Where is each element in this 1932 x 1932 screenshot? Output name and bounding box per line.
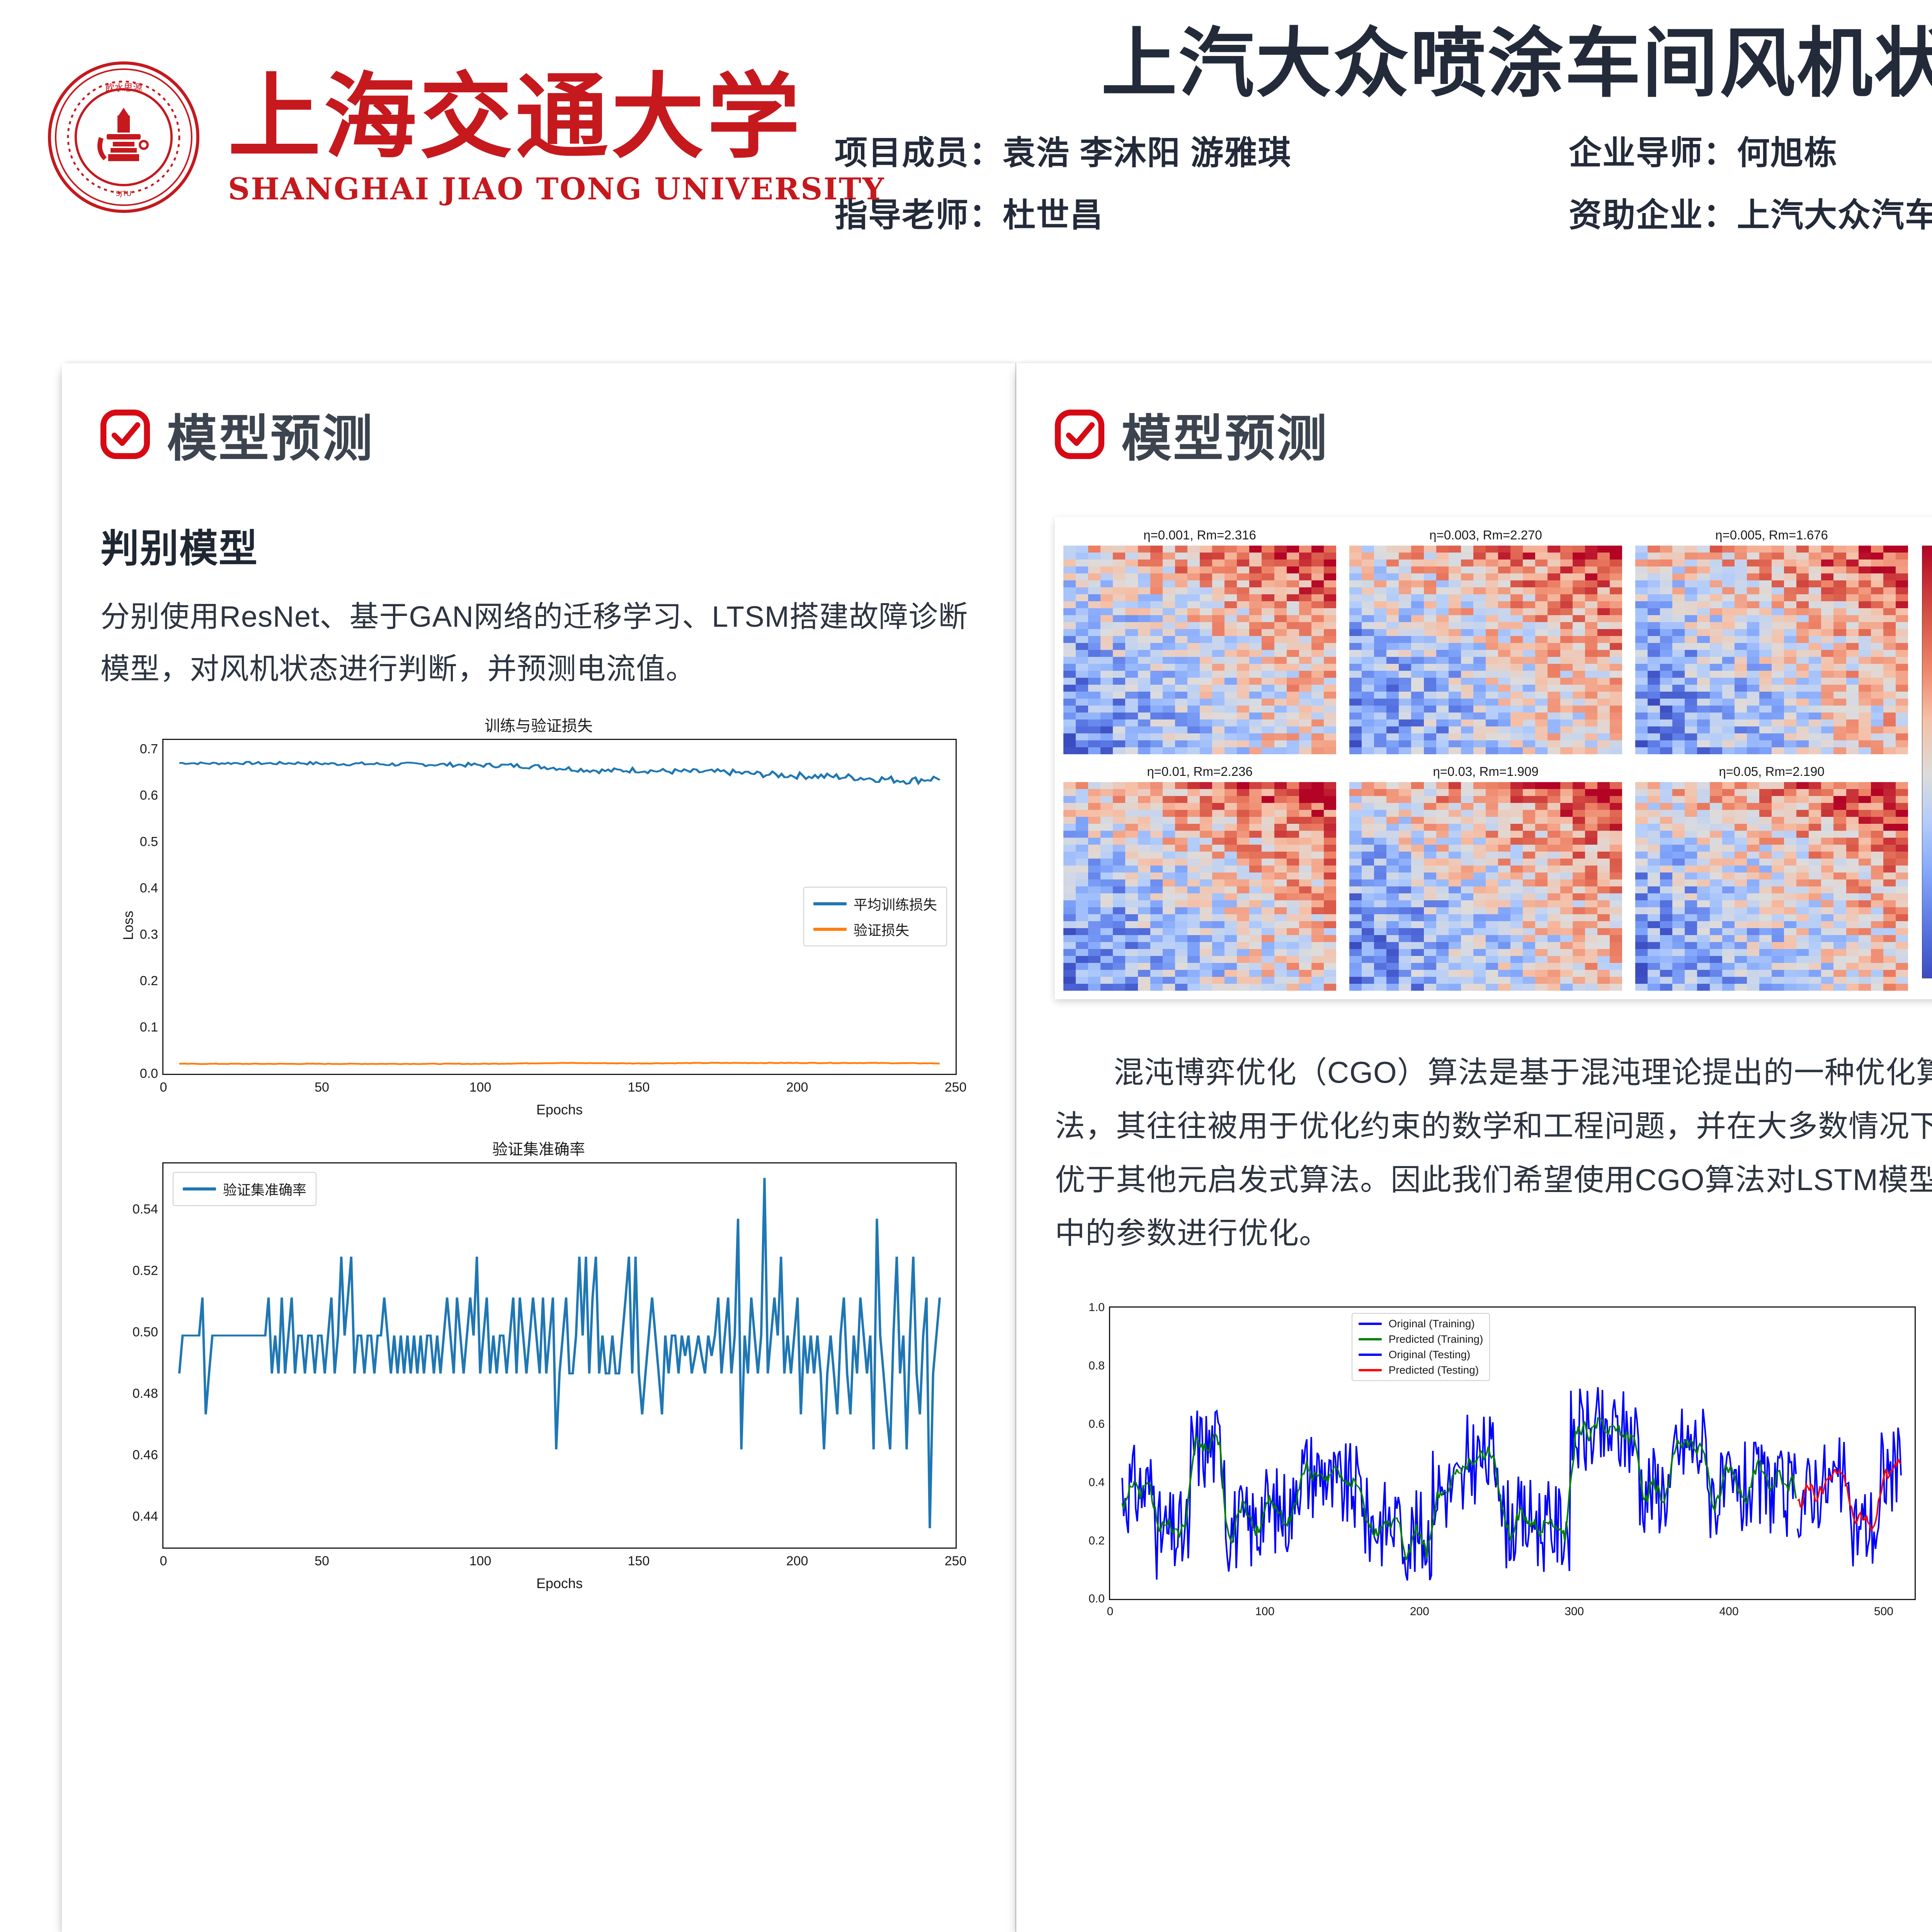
accuracy-y-tick: 0.48 [133,1386,158,1401]
cgo-heatmap-caption-1: η=0.003, Rm=2.270 [1349,528,1622,543]
cgo-heatmap-cell-2: η=0.005, Rm=1.676 [1635,528,1908,754]
legend-item-predicted-training: Predicted (Training) [1359,1333,1483,1345]
loss-chart-legend: 平均训练损失 验证损失 [803,887,947,946]
pred-x-tick: 100 [1255,1605,1274,1618]
legend-item-val-accuracy: 验证集准确率 [183,1179,306,1199]
cgo-heatmap-caption-3: η=0.01, Rm=2.236 [1063,764,1336,779]
loss-y-tick: 0.1 [140,1020,158,1035]
accuracy-chart-figure: 验证集准确率 验证集准确率 0.440.460.480.500.520.54 0… [100,1137,977,1549]
accuracy-x-tick: 100 [469,1554,492,1569]
accuracy-y-tick: 0.54 [133,1202,158,1217]
check-box-icon [100,410,150,459]
cgo-heatmap-image-2 [1635,546,1908,754]
legend-item-original-training: Original (Training) [1359,1318,1483,1330]
lstm-prediction-lines [1110,1308,1915,1599]
pred-y-tick: 0.2 [1088,1534,1105,1548]
section-header-2: 模型预测 [1055,398,1932,471]
cgo-heatmap-image-0 [1063,546,1336,754]
meta-sponsor: 资助企业：上汽大众汽车有限公司 [1569,189,1932,236]
project-meta: 项目成员：袁浩 李沐阳 游雅琪 企业导师：何旭栋 指导老师：杜世昌 资助企业：上… [811,126,1932,236]
loss-series-0 [179,762,940,784]
panel-1-body-text: 分别使用ResNet、基于GAN网络的迁移学习、LTSM搭建故障诊断模型，对风机… [100,591,977,696]
accuracy-y-tick: 0.52 [133,1263,158,1278]
cgo-heatmap-grid: η=0.001, Rm=2.316η=0.003, Rm=2.270η=0.00… [1063,528,1908,991]
loss-y-tick: 0.5 [140,834,158,849]
cgo-heatmap-cell-5: η=0.05, Rm=2.190 [1635,764,1908,991]
cgo-heatmap-image-5 [1635,782,1908,991]
loss-y-tick: 0.4 [140,881,158,896]
loss-x-tick: 150 [628,1080,650,1095]
cgo-heatmap-image-4 [1349,782,1622,991]
cgo-heatmap-caption-2: η=0.005, Rm=1.676 [1635,528,1908,543]
panel-2-body-text: 混沌博弈优化（CGO）算法是基于混沌理论提出的一种优化算法，其往往被用于优化约束… [1055,1046,1932,1260]
accuracy-chart-title: 验证集准确率 [100,1137,977,1159]
loss-x-tick: 200 [786,1080,808,1095]
meta-industry-mentor: 企业导师：何旭栋 [1569,126,1932,174]
loss-x-tick: 50 [315,1080,329,1095]
legend-label-val-loss: 验证损失 [854,919,909,939]
cgo-heatmap-image-1 [1349,546,1622,754]
accuracy-y-tick: 0.46 [133,1447,158,1463]
legend-swatch-original-testing [1359,1354,1382,1356]
pred-y-tick: 0.0 [1088,1592,1105,1605]
cgo-heatmap-card: η=0.001, Rm=2.316η=0.003, Rm=2.270η=0.00… [1055,517,1932,999]
pred-x-tick: 500 [1874,1605,1893,1618]
panel-model-prediction-middle: 模型预测 η=0.001, Rm=2.316η=0.003, Rm=2.270η… [1016,363,1932,1932]
loss-chart-plot-area: 平均训练损失 验证损失 0.00.10.20.30.40.50.60.7 050… [162,739,957,1075]
legend-item-predicted-testing: Predicted (Testing) [1359,1364,1483,1376]
panel-model-prediction-left: 模型预测 判别模型 分别使用ResNet、基于GAN网络的迁移学习、LTSM搭建… [62,363,1016,1932]
accuracy-x-tick: 250 [945,1554,967,1569]
accuracy-chart-xlabel: Epochs [536,1575,583,1592]
sjtu-seal-icon: 飲水思源 SJTU [46,60,201,214]
sjtu-logo: 飲水思源 SJTU 上海交通大学 SHANGHAI JIAO TONG UNIV… [46,29,742,245]
loss-x-tick: 250 [945,1080,967,1095]
accuracy-x-tick: 50 [315,1554,329,1569]
legend-label-train-loss: 平均训练损失 [854,894,937,914]
accuracy-x-tick: 200 [786,1554,808,1569]
section-title-2: 模型预测 [1121,398,1328,471]
accuracy-x-tick: 150 [628,1554,650,1569]
loss-chart-title: 训练与验证损失 [100,713,977,736]
accuracy-y-tick: 0.50 [133,1325,158,1340]
check-box-icon [1055,410,1104,459]
svg-text:飲水思源: 飲水思源 [105,82,142,93]
legend-label-predicted-training: Predicted (Training) [1389,1333,1483,1345]
legend-item-val-loss: 验证损失 [813,919,937,939]
subsection-title-discriminative-model: 判别模型 [100,517,988,573]
page-title: 上汽大众喷涂车间风机状态监测系统 [811,21,1932,106]
cgo-heatmap-image-3 [1063,782,1336,991]
legend-swatch-val-loss [813,928,847,931]
loss-chart-xlabel: Epochs [536,1102,583,1118]
loss-x-tick: 100 [469,1080,492,1095]
poster-root: 飲水思源 SJTU 上海交通大学 SHANGHAI JIAO TONG UNIV… [0,0,1932,1932]
loss-x-tick: 0 [160,1080,167,1095]
cgo-colorbar: 0510152025303540 [1922,546,1932,991]
legend-item-train-loss: 平均训练损失 [813,894,937,914]
loss-y-tick: 0.0 [140,1066,158,1081]
pred-y-tick: 1.0 [1088,1301,1105,1314]
accuracy-y-tick: 0.44 [133,1509,158,1524]
cgo-heatmap-caption-0: η=0.001, Rm=2.316 [1063,528,1336,543]
accuracy-chart-legend: 验证集准确率 [173,1172,316,1206]
section-header-1: 模型预测 [100,398,988,471]
legend-label-original-training: Original (Training) [1389,1318,1475,1330]
pred-x-tick: 400 [1719,1605,1739,1618]
legend-label-predicted-testing: Predicted (Testing) [1389,1364,1479,1376]
legend-label-val-accuracy: 验证集准确率 [223,1179,306,1199]
lstm-prediction-figure: Original (Training) Predicted (Training)… [1109,1306,1916,1600]
cgo-heatmap-cell-3: η=0.01, Rm=2.236 [1063,764,1336,991]
loss-chart-ylabel: Loss [120,911,136,940]
pred-x-tick: 0 [1107,1605,1114,1618]
loss-y-tick: 0.7 [140,742,158,757]
legend-swatch-train-loss [813,902,847,905]
accuracy-chart-line [163,1163,956,1548]
cgo-colorbar-strip [1922,546,1932,978]
lstm-prediction-plot-area: Original (Training) Predicted (Training)… [1109,1306,1916,1600]
lstm-prediction-legend: Original (Training) Predicted (Training)… [1352,1313,1490,1381]
poster-header: 飲水思源 SJTU 上海交通大学 SHANGHAI JIAO TONG UNIV… [0,0,1932,359]
title-block: 上汽大众喷涂车间风机状态监测系统 项目成员：袁浩 李沐阳 游雅琪 企业导师：何旭… [811,21,1932,236]
loss-chart-figure: 训练与验证损失 平均训练损失 验证损失 0.00.10.20.30.40.5 [100,713,977,1075]
meta-advisor: 指导老师：杜世昌 [835,189,1569,236]
sjtu-name-cn: 上海交通大学 [228,68,885,165]
loss-y-tick: 0.2 [140,973,158,988]
meta-members: 项目成员：袁浩 李沐阳 游雅琪 [835,126,1569,174]
accuracy-chart-plot-area: 验证集准确率 0.440.460.480.500.520.54 05010015… [162,1162,957,1549]
loss-y-tick: 0.6 [140,788,158,803]
cgo-heatmap-cell-0: η=0.001, Rm=2.316 [1063,528,1336,754]
pred-y-tick: 0.6 [1088,1418,1105,1431]
legend-swatch-predicted-testing [1359,1369,1382,1371]
legend-swatch-predicted-training [1359,1338,1382,1340]
sjtu-name-en: SHANGHAI JIAO TONG UNIVERSITY [228,172,885,207]
loss-y-tick: 0.3 [140,927,158,942]
legend-item-original-testing: Original (Testing) [1359,1349,1483,1361]
cgo-heatmap-caption-5: η=0.05, Rm=2.190 [1635,764,1908,779]
cgo-heatmap-cell-4: η=0.03, Rm=1.909 [1349,764,1622,991]
accuracy-series [179,1178,940,1528]
legend-label-original-testing: Original (Testing) [1389,1349,1471,1361]
cgo-heatmap-caption-4: η=0.03, Rm=1.909 [1349,764,1622,779]
panel-row: 模型预测 判别模型 分别使用ResNet、基于GAN网络的迁移学习、LTSM搭建… [62,363,1932,1932]
sjtu-wordmark: 上海交通大学 SHANGHAI JIAO TONG UNIVERSITY [228,68,885,207]
pred-y-tick: 0.4 [1088,1476,1105,1489]
svg-text:SJTU: SJTU [116,190,132,198]
legend-swatch-original-training [1359,1323,1382,1325]
pred-x-tick: 300 [1565,1605,1584,1618]
pred-y-tick: 0.8 [1088,1359,1105,1372]
cgo-heatmap-cell-1: η=0.003, Rm=2.270 [1349,528,1622,754]
section-title-1: 模型预测 [167,398,374,471]
accuracy-x-tick: 0 [160,1554,167,1569]
legend-swatch-val-accuracy [183,1187,216,1190]
pred-x-tick: 200 [1410,1605,1429,1618]
loss-series-1 [179,1063,940,1064]
